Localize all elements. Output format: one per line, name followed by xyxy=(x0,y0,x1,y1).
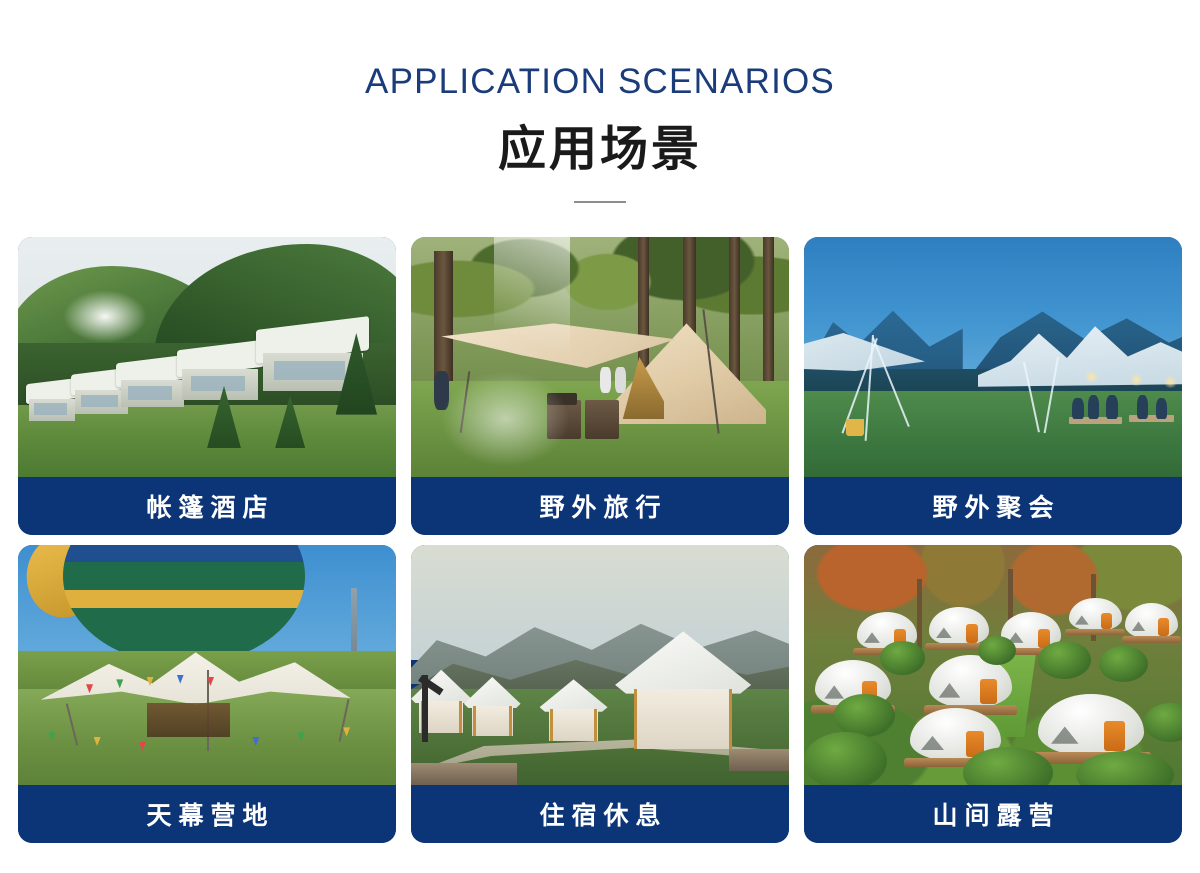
scenario-label-outdoor-travel: 野外旅行 xyxy=(411,477,789,535)
scenario-label-accommodation-rest: 住宿休息 xyxy=(411,785,789,843)
scenario-label-tent-hotel: 帐篷酒店 xyxy=(18,477,396,535)
photo-outdoor-travel xyxy=(411,237,789,477)
photo-accommodation-rest xyxy=(411,545,789,785)
scenario-card-outdoor-travel[interactable]: 野外旅行 xyxy=(411,237,789,535)
application-scenarios-page: APPLICATION SCENARIOS 应用场景 xyxy=(0,0,1200,873)
header-divider xyxy=(574,201,626,203)
photo-mountain-camping xyxy=(804,545,1182,785)
scenario-card-grid: 帐篷酒店 xyxy=(18,237,1182,843)
scenario-label-outdoor-gathering: 野外聚会 xyxy=(804,477,1182,535)
photo-outdoor-gathering xyxy=(804,237,1182,477)
scenario-card-mountain-camping[interactable]: 山间露营 xyxy=(804,545,1182,843)
scenario-card-outdoor-gathering[interactable]: 野外聚会 xyxy=(804,237,1182,535)
scenario-label-mountain-camping: 山间露营 xyxy=(804,785,1182,843)
scenario-card-accommodation-rest[interactable]: 住宿休息 xyxy=(411,545,789,843)
section-title-chinese: 应用场景 xyxy=(0,125,1200,173)
photo-canopy-campsite xyxy=(18,545,396,785)
photo-tent-hotel xyxy=(18,237,396,477)
section-header: APPLICATION SCENARIOS 应用场景 xyxy=(0,0,1200,203)
scenario-card-canopy-campsite[interactable]: 天幕营地 xyxy=(18,545,396,843)
section-title-english: APPLICATION SCENARIOS xyxy=(0,64,1200,99)
scenario-card-tent-hotel[interactable]: 帐篷酒店 xyxy=(18,237,396,535)
scenario-label-canopy-campsite: 天幕营地 xyxy=(18,785,396,843)
